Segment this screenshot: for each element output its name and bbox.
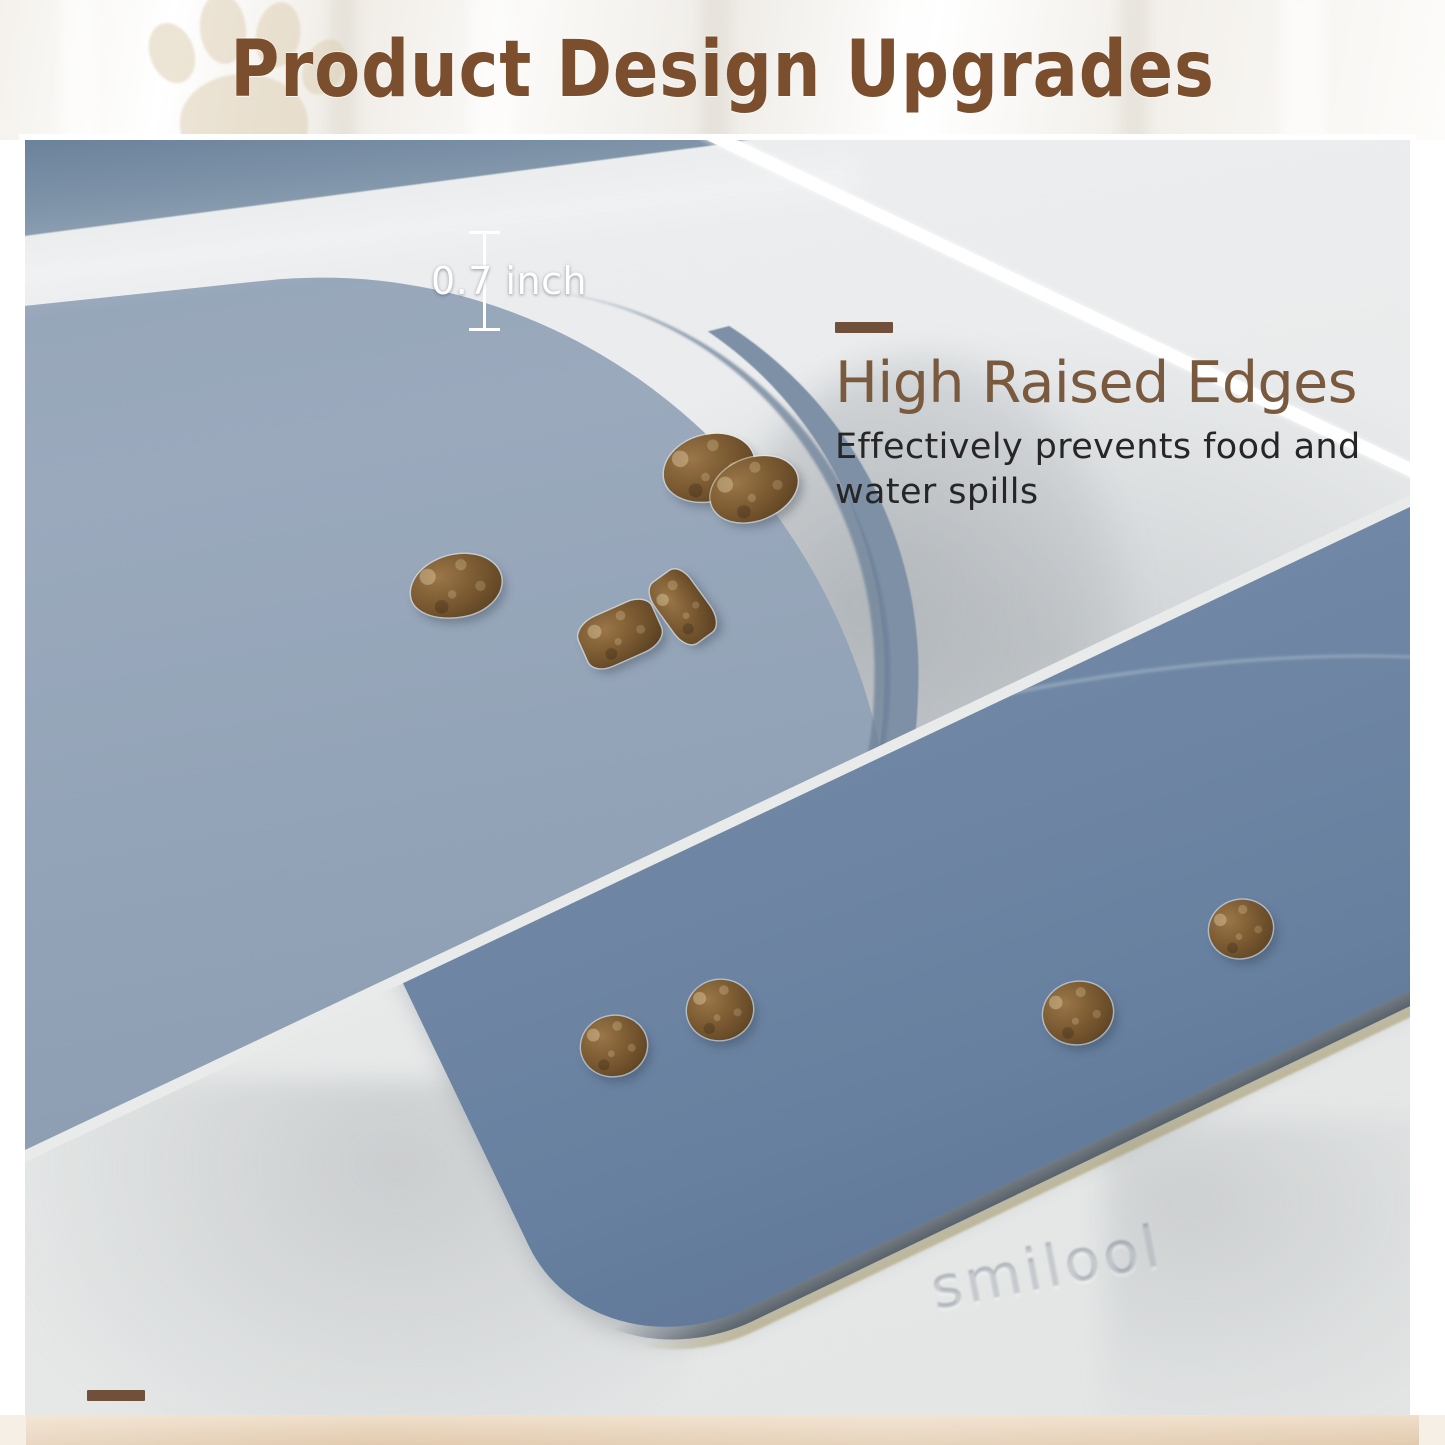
feature-block-keeping-floor-clean: Keeping the floor clean Minimizes time s… [87,1390,1267,1415]
accent-bar-icon [87,1390,145,1401]
curtain-streak [60,0,98,140]
floor-shadow-right [1105,1120,1410,1415]
accent-bar-icon [835,322,893,333]
page-title: Product Design Upgrades [101,0,1344,140]
feature-subtitle: Effectively prevents food and water spil… [835,425,1410,515]
banner-header: Product Design Upgrades [0,0,1445,140]
product-photo-panel: smilool 0.7 inch High Raised Edges Effec… [25,140,1410,1415]
corner-pad-right [1419,1415,1445,1445]
feature-heading: High Raised Edges [835,353,1410,413]
product-infographic: Product Design Upgrades smilool [0,0,1445,1445]
floor-strip [0,1415,1445,1445]
feature-block-high-raised-edges: High Raised Edges Effectively prevents f… [835,322,1410,515]
corner-pad-left [0,1415,26,1445]
